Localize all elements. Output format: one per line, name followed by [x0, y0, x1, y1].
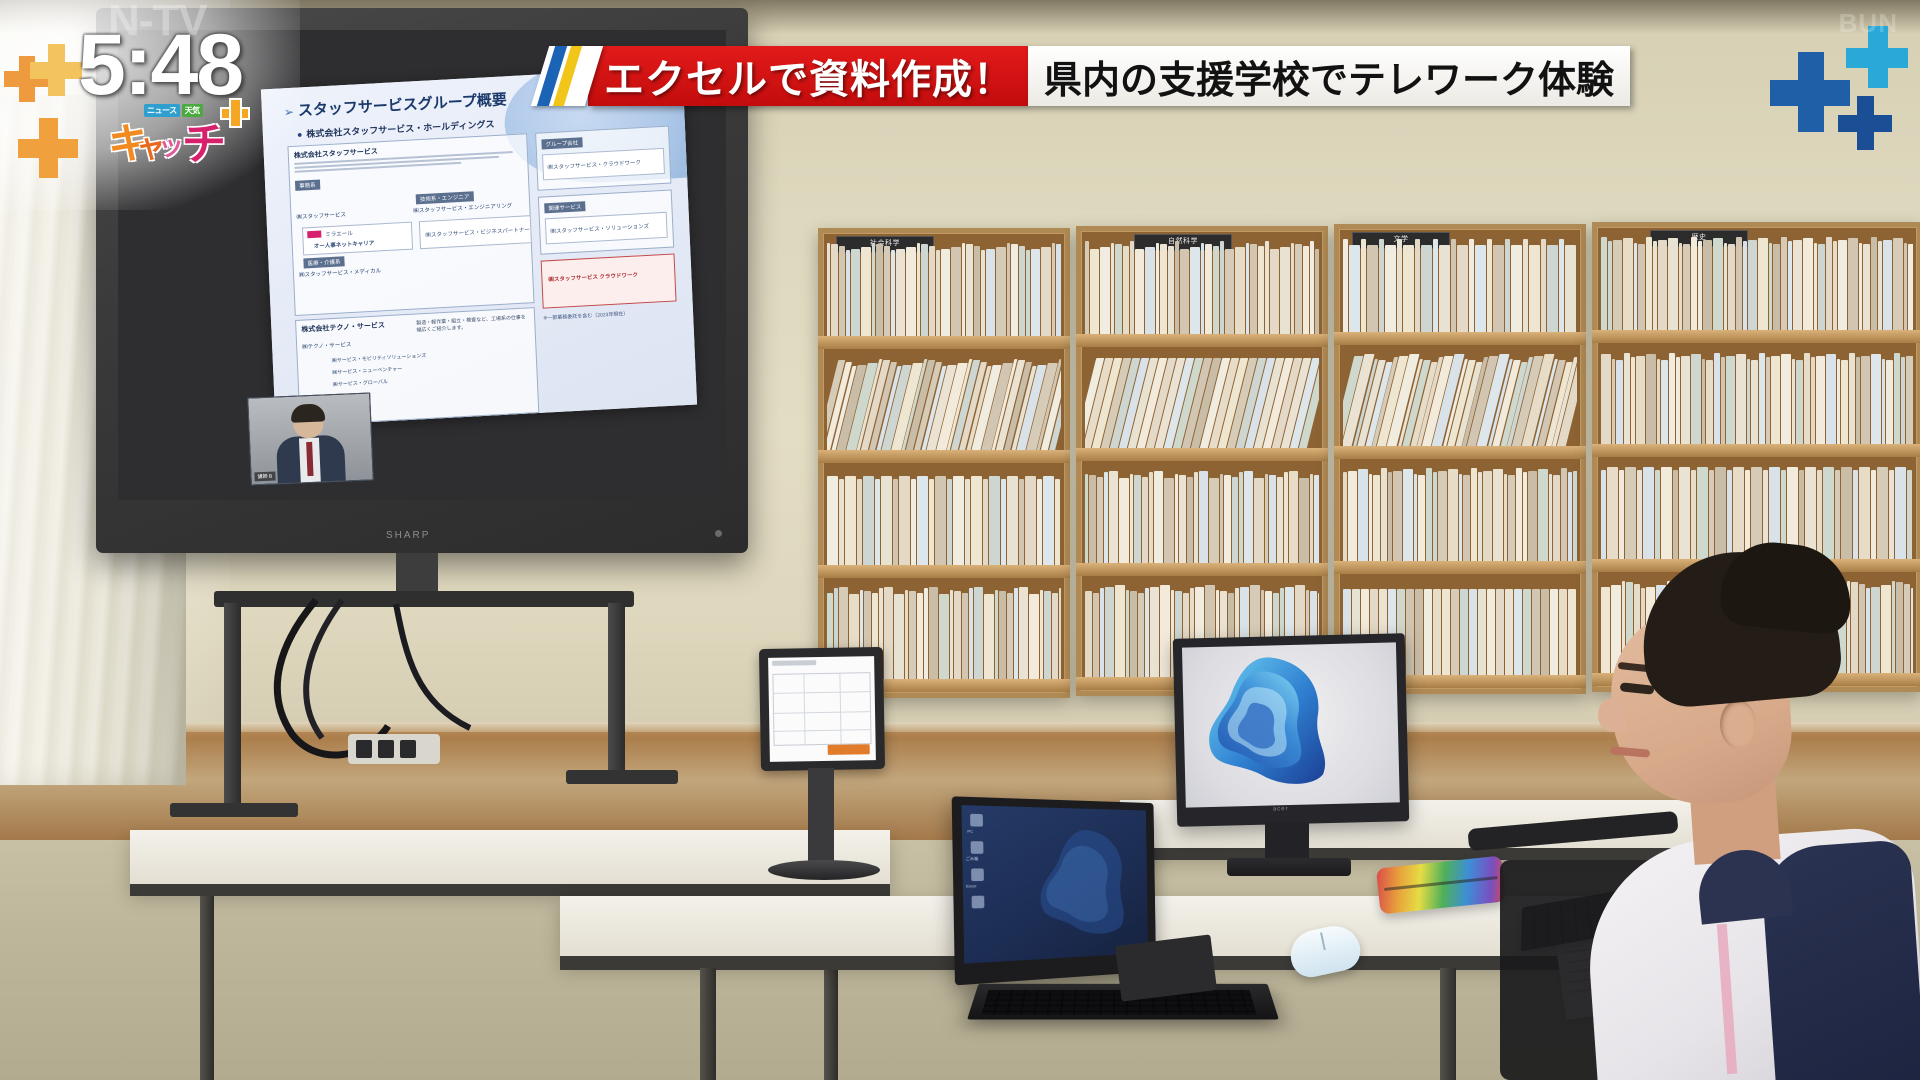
slide-right-box-1-text: ㈱スタッフサービス・クラウドワーク [547, 158, 641, 171]
book-spine [1199, 471, 1208, 563]
book-spine [1085, 474, 1088, 563]
book-spine [1886, 360, 1893, 445]
book-spine [1766, 357, 1770, 445]
book-spine [1646, 237, 1652, 330]
book-spine [1643, 467, 1654, 559]
bookshelf-unit: 社会科学 [818, 228, 1070, 698]
book-spine [1568, 472, 1572, 561]
book-spine [1661, 467, 1672, 559]
book-spine [1859, 243, 1862, 330]
book-spine [1906, 356, 1913, 445]
book-spine [1100, 247, 1110, 334]
book-spine [1624, 353, 1630, 445]
book-spine [1463, 475, 1470, 561]
book-spine [1637, 470, 1642, 559]
book-spine [1523, 239, 1528, 332]
bookshelf-board [1076, 448, 1328, 461]
book-spine [1055, 479, 1060, 565]
decor-plus-orange-2 [18, 118, 78, 178]
book-spine [1613, 240, 1622, 330]
book-spine [1007, 243, 1010, 336]
book-spine [1142, 477, 1148, 563]
book-spine [857, 479, 862, 565]
book-spine [893, 479, 898, 565]
book-spine [1771, 356, 1780, 445]
book-spine [1270, 249, 1279, 334]
book-row [1085, 468, 1319, 563]
book-spine [1514, 589, 1522, 676]
laptop-desktop-icon-pc[interactable] [970, 814, 983, 827]
book-spine [1646, 354, 1656, 445]
book-spine [1026, 250, 1030, 336]
logo-tab-weather: 天気 [182, 104, 203, 117]
book-spine [1661, 360, 1668, 445]
book-spine [1608, 241, 1612, 330]
book-spine [1804, 353, 1810, 445]
book-spine [1758, 238, 1768, 330]
book-spine [1085, 241, 1089, 334]
book-spine [924, 588, 928, 680]
book-spine [941, 249, 950, 336]
book-spine [1007, 593, 1013, 680]
book-spine [1547, 245, 1558, 332]
slide-techno-item: ㈱テクノ・サービス [302, 340, 351, 351]
book-spine [1180, 249, 1189, 334]
book-spine [1303, 246, 1309, 334]
book-spine [1168, 246, 1174, 334]
book-row [1343, 237, 1577, 332]
book-spine [1414, 474, 1417, 561]
book-spine [1883, 240, 1892, 330]
bookshelf-board [1334, 332, 1586, 345]
book-spine [947, 479, 952, 565]
book-spine [1538, 469, 1548, 561]
book-spine [1669, 353, 1675, 445]
monitor-screen[interactable] [1182, 642, 1400, 807]
book-spine [1835, 470, 1840, 559]
book-spine [1625, 467, 1636, 559]
tv-stand-foot-left [170, 803, 298, 817]
book-spine [1715, 467, 1726, 559]
book-row [1085, 239, 1319, 334]
book-spine [1878, 241, 1882, 330]
book-spine [1657, 359, 1660, 445]
book-spine [1487, 589, 1495, 676]
book-spine [1369, 474, 1372, 561]
book-spine [1059, 588, 1061, 680]
book-spine [1714, 353, 1720, 445]
book-spine [935, 476, 946, 565]
book-spine [1295, 244, 1302, 334]
book-spine [1863, 244, 1870, 330]
book-spine [929, 587, 938, 680]
book-spine [1090, 249, 1099, 334]
slide-box-staffservice: 株式会社スタッフサービス 事務系 ㈱スタッフサービス ミラエール オー人事ネット… [287, 133, 534, 316]
book-spine [1145, 588, 1149, 678]
video-call-name-label: 講師 B [254, 472, 275, 482]
book-spine [962, 243, 965, 336]
book-spine [1469, 589, 1477, 676]
book-spine [1623, 238, 1633, 330]
book-spine [875, 479, 880, 565]
book-spine [1504, 474, 1507, 561]
tablet-body [759, 647, 885, 771]
book-spine [1803, 238, 1813, 330]
book-spine [1105, 587, 1114, 678]
book-spine [1698, 241, 1702, 330]
book-spine [1111, 243, 1114, 334]
slide-title-text: スタッフサービスグループ概要 [298, 91, 508, 119]
book-spine [1310, 241, 1314, 334]
book-spine [1385, 245, 1396, 332]
book-spine [1451, 589, 1459, 676]
book-spine [881, 476, 892, 565]
book-spine [1607, 467, 1618, 559]
book-spine [1393, 471, 1402, 561]
slide-item-1: ㈱スタッフサービス [296, 210, 346, 221]
book-spine [863, 476, 874, 565]
book-spine [1014, 588, 1018, 680]
book-spine [1123, 246, 1129, 334]
book-spine [1676, 357, 1680, 445]
slide-right-tag-2: 関連サービス [544, 201, 585, 213]
book-spine [1130, 591, 1137, 678]
tv-stand-neck [396, 553, 438, 593]
book-spine [1653, 241, 1657, 330]
book-spine [1553, 475, 1560, 561]
tv-cables [256, 594, 586, 774]
book-spine [1833, 241, 1837, 330]
book-spine [1736, 237, 1742, 330]
book-spine [846, 250, 850, 336]
slide-right-box-1: ㈱スタッフサービス・クラウドワーク [542, 148, 665, 181]
book-spine [1793, 240, 1802, 330]
book-spine [1814, 243, 1817, 330]
slide-item-3: ㈱スタッフサービス・メディカル [299, 266, 381, 278]
book-spine [1747, 359, 1750, 445]
book-spine [1658, 240, 1667, 330]
book-spine [936, 250, 940, 336]
book-spine [1381, 468, 1387, 561]
book-spine [1348, 471, 1357, 561]
pencil-case-zipper [1384, 876, 1498, 891]
book-spine [1848, 238, 1858, 330]
slide-list-b: ㈱サービス・ニューベンチャー [332, 365, 402, 376]
video-call-thumbnail[interactable]: 講師 B [247, 392, 374, 485]
book-row [1343, 466, 1577, 561]
student-nose [1598, 698, 1626, 732]
tablet-stand-base [768, 860, 880, 880]
book-spine [1052, 593, 1058, 680]
bookshelf-board [1334, 446, 1586, 459]
book-spine [1130, 241, 1134, 334]
book-spine [1616, 360, 1623, 445]
tablet-submit-button[interactable] [828, 744, 870, 755]
book-spine [1201, 243, 1204, 334]
book-spine [1745, 470, 1750, 559]
book-spine [986, 249, 995, 336]
book-spine [1448, 469, 1458, 561]
bookshelf-board [1592, 330, 1920, 343]
tv-power-led-icon [715, 530, 722, 537]
book-spine [1220, 241, 1224, 334]
book-spine [1859, 467, 1870, 559]
book-spine [917, 593, 923, 680]
book-spine [1160, 244, 1167, 334]
book-spine [1713, 238, 1723, 330]
laptop-icon-label-pc: PC [967, 828, 973, 833]
book-spine [971, 476, 982, 565]
logo-tab-group: ニュース 天気 [144, 104, 203, 117]
book-spine [1895, 467, 1906, 559]
book-spine [1826, 354, 1836, 445]
book-spine [876, 244, 883, 336]
book-spine [1104, 472, 1108, 563]
book-spine [827, 476, 838, 565]
book-spine [1043, 476, 1054, 565]
laptop-screen[interactable]: PC ごみ箱 Excel [961, 805, 1148, 964]
book-spine [1001, 479, 1006, 565]
book-spine [1508, 475, 1515, 561]
book-spine [1280, 247, 1290, 334]
bookshelf-board [1334, 561, 1586, 574]
desk-left-leg-a [200, 896, 214, 1080]
book-spine [1011, 244, 1018, 336]
book-spine [1115, 585, 1125, 678]
bookshelf-board [1592, 444, 1920, 457]
book-spine [1433, 472, 1437, 561]
decor-plus-yellow-1 [30, 44, 82, 96]
slide-box-cloudwork: ㈱スタッフサービス クラウドワーク [541, 253, 677, 308]
book-spine [1550, 589, 1558, 676]
slide-box-group: グループ会社 ㈱スタッフサービス・クラウドワーク [535, 126, 671, 191]
book-spine [1668, 238, 1678, 330]
book-spine [1683, 244, 1690, 330]
book-spine [1019, 479, 1024, 565]
book-spine [1523, 589, 1531, 676]
book-row [1601, 350, 1913, 445]
book-spine [1175, 241, 1179, 334]
book-spine [1258, 246, 1264, 334]
book-spine [1119, 478, 1129, 563]
book-spine [917, 243, 920, 336]
book-spine [996, 247, 1006, 336]
book-spine [1631, 357, 1635, 445]
book-spine [1451, 239, 1456, 332]
book-spine [953, 476, 964, 565]
laptop-icon-label-excel: Excel [966, 883, 976, 888]
desk-front-leg-b [1440, 968, 1456, 1080]
book-spine [1691, 237, 1697, 330]
book-spine [1706, 360, 1713, 445]
book-spine [1496, 589, 1504, 676]
book-spine [1702, 359, 1705, 445]
book-spine [1529, 245, 1540, 332]
logo-plus-icon [222, 100, 248, 126]
bookshelf-board [818, 565, 1070, 578]
monitor-bezel: acer [1173, 633, 1410, 827]
book-spine [1175, 474, 1178, 563]
book-spine [1040, 590, 1043, 680]
book-spine [995, 590, 998, 680]
book-spine [1085, 591, 1092, 678]
book-spine [1426, 468, 1432, 561]
book-spine [1164, 478, 1174, 563]
book-spine [1265, 474, 1268, 563]
book-spine [1523, 472, 1527, 561]
book-spine [1743, 241, 1747, 330]
book-spine [1403, 469, 1413, 561]
book-spine [1601, 237, 1607, 330]
book-spine [1439, 245, 1450, 332]
book-spine [1493, 245, 1504, 332]
book-spine [1759, 353, 1765, 445]
bookshelf-board [1076, 334, 1328, 347]
book-row [827, 470, 1061, 565]
laptop-keyboard[interactable] [981, 990, 1256, 1015]
book-spine [1232, 477, 1238, 563]
book-spine [1361, 239, 1366, 332]
book-spine [1397, 239, 1402, 332]
laptop-desktop-icon-folder[interactable] [972, 896, 985, 909]
book-spine [1559, 589, 1567, 676]
bookshelf-unit: 自然科学 [1076, 226, 1328, 696]
laptop-desktop-icon-recyclebin[interactable] [971, 841, 984, 854]
slide-right-tag-1: グループ会社 [541, 137, 582, 149]
tablet-screen[interactable] [768, 656, 876, 762]
book-spine [1457, 245, 1468, 332]
book-spine [1025, 476, 1036, 565]
book-spine [1908, 244, 1913, 330]
book-spine [1224, 475, 1231, 563]
book-spine [1254, 478, 1264, 563]
program-logo: キ ャ ッ チ ニュース 天気 [104, 96, 249, 158]
book-spine [1882, 359, 1885, 445]
book-spine [1679, 467, 1690, 559]
book-spine [1679, 243, 1682, 330]
book-spine [1636, 356, 1645, 445]
book-spine [1894, 353, 1900, 445]
book-spine [1733, 467, 1744, 559]
book-spine [1788, 241, 1792, 330]
headline-bar: エクセルで資料作成！ 県内の支援学校でテレワーク体験 [540, 46, 1630, 106]
book-spine [1109, 471, 1118, 563]
logo-char-chi: チ [182, 108, 226, 172]
book-spine [1205, 244, 1212, 334]
slide-right-box-2: ㈱スタッフサービス・ソリューションズ [545, 212, 668, 245]
book-spine [1367, 245, 1378, 332]
book-spine [1154, 471, 1163, 563]
book-spine [1478, 589, 1486, 676]
book-spine [1403, 245, 1414, 332]
book-spine [1343, 472, 1347, 561]
book-spine [1291, 243, 1294, 334]
laptop[interactable]: PC ごみ箱 Excel [955, 800, 1335, 1080]
book-spine [1284, 472, 1288, 563]
laptop-desktop-icon-excel[interactable] [971, 868, 984, 881]
book-spine [1826, 237, 1832, 330]
book-spine [1433, 239, 1438, 332]
tablet-stand-neck [808, 768, 834, 866]
book-spine [1612, 359, 1615, 445]
book-spine [899, 476, 910, 565]
book-spine [831, 244, 838, 336]
book-spine [1561, 468, 1567, 561]
book-spine [1250, 244, 1257, 334]
book-spine [1773, 244, 1780, 330]
logo-char-tsu: ッ [158, 126, 184, 163]
book-spine [1549, 474, 1552, 561]
book-spine [917, 476, 928, 565]
book-spine [891, 250, 895, 336]
desk-front-leg-a [700, 968, 716, 1080]
bookshelf-board [818, 336, 1070, 349]
book-spine [1179, 475, 1186, 563]
book-spine [1213, 246, 1219, 334]
book-spine [1029, 594, 1039, 680]
book-spine [1736, 354, 1746, 445]
bookshelf-board [1076, 563, 1328, 576]
book-spine [1655, 470, 1660, 559]
book-spine [906, 247, 916, 336]
book-spine [1150, 587, 1159, 678]
book-spine [1269, 475, 1276, 563]
decor-plus-blue-2 [1838, 96, 1892, 150]
book-spine [1838, 240, 1847, 330]
book-spine [896, 249, 905, 336]
slide-brand-box: ミラエール オー人事ネットキャリア [302, 222, 413, 256]
corner-watermark: BUN [1839, 8, 1898, 39]
tablet-on-stand[interactable] [760, 648, 915, 948]
book-spine [1697, 467, 1708, 559]
book-spine [1239, 472, 1243, 563]
book-spine [1841, 467, 1852, 559]
book-spine [839, 479, 844, 565]
bookshelf-unit: 文学 [1334, 224, 1586, 694]
book-spine [1856, 357, 1860, 445]
book-spine [1811, 357, 1815, 445]
book-spine [1349, 245, 1360, 332]
book-spine [1007, 476, 1018, 565]
book-spine [984, 594, 994, 680]
book-spine [1541, 239, 1546, 332]
book-spine [1265, 241, 1269, 334]
laptop-side-pad [1115, 934, 1217, 1001]
book-spine [1805, 467, 1816, 559]
book-spine [1619, 470, 1624, 559]
book-spine [1438, 471, 1447, 561]
book-spine [950, 590, 953, 680]
book-spine [1358, 469, 1368, 561]
book-spine [1487, 239, 1492, 332]
book-row [827, 356, 1061, 451]
book-spine [1559, 239, 1564, 332]
slide-footer-note: ※一部業務委託を含む（2023年現在） [543, 310, 629, 322]
book-spine [1187, 477, 1193, 563]
windows-bloom-wallpaper-icon [1196, 650, 1349, 794]
slide-brand-name: オー人事ネットキャリア [314, 239, 375, 250]
book-spine [1505, 589, 1513, 676]
book-spine [1379, 239, 1384, 332]
book-spine [1893, 238, 1903, 330]
logo-tab-news: ニュース [144, 104, 180, 117]
book-spine [1781, 237, 1787, 330]
book-spine [1638, 244, 1645, 330]
book-spine [929, 479, 934, 565]
book-spine [1565, 245, 1576, 332]
book-spine [954, 591, 961, 680]
book-spine [1115, 244, 1122, 334]
